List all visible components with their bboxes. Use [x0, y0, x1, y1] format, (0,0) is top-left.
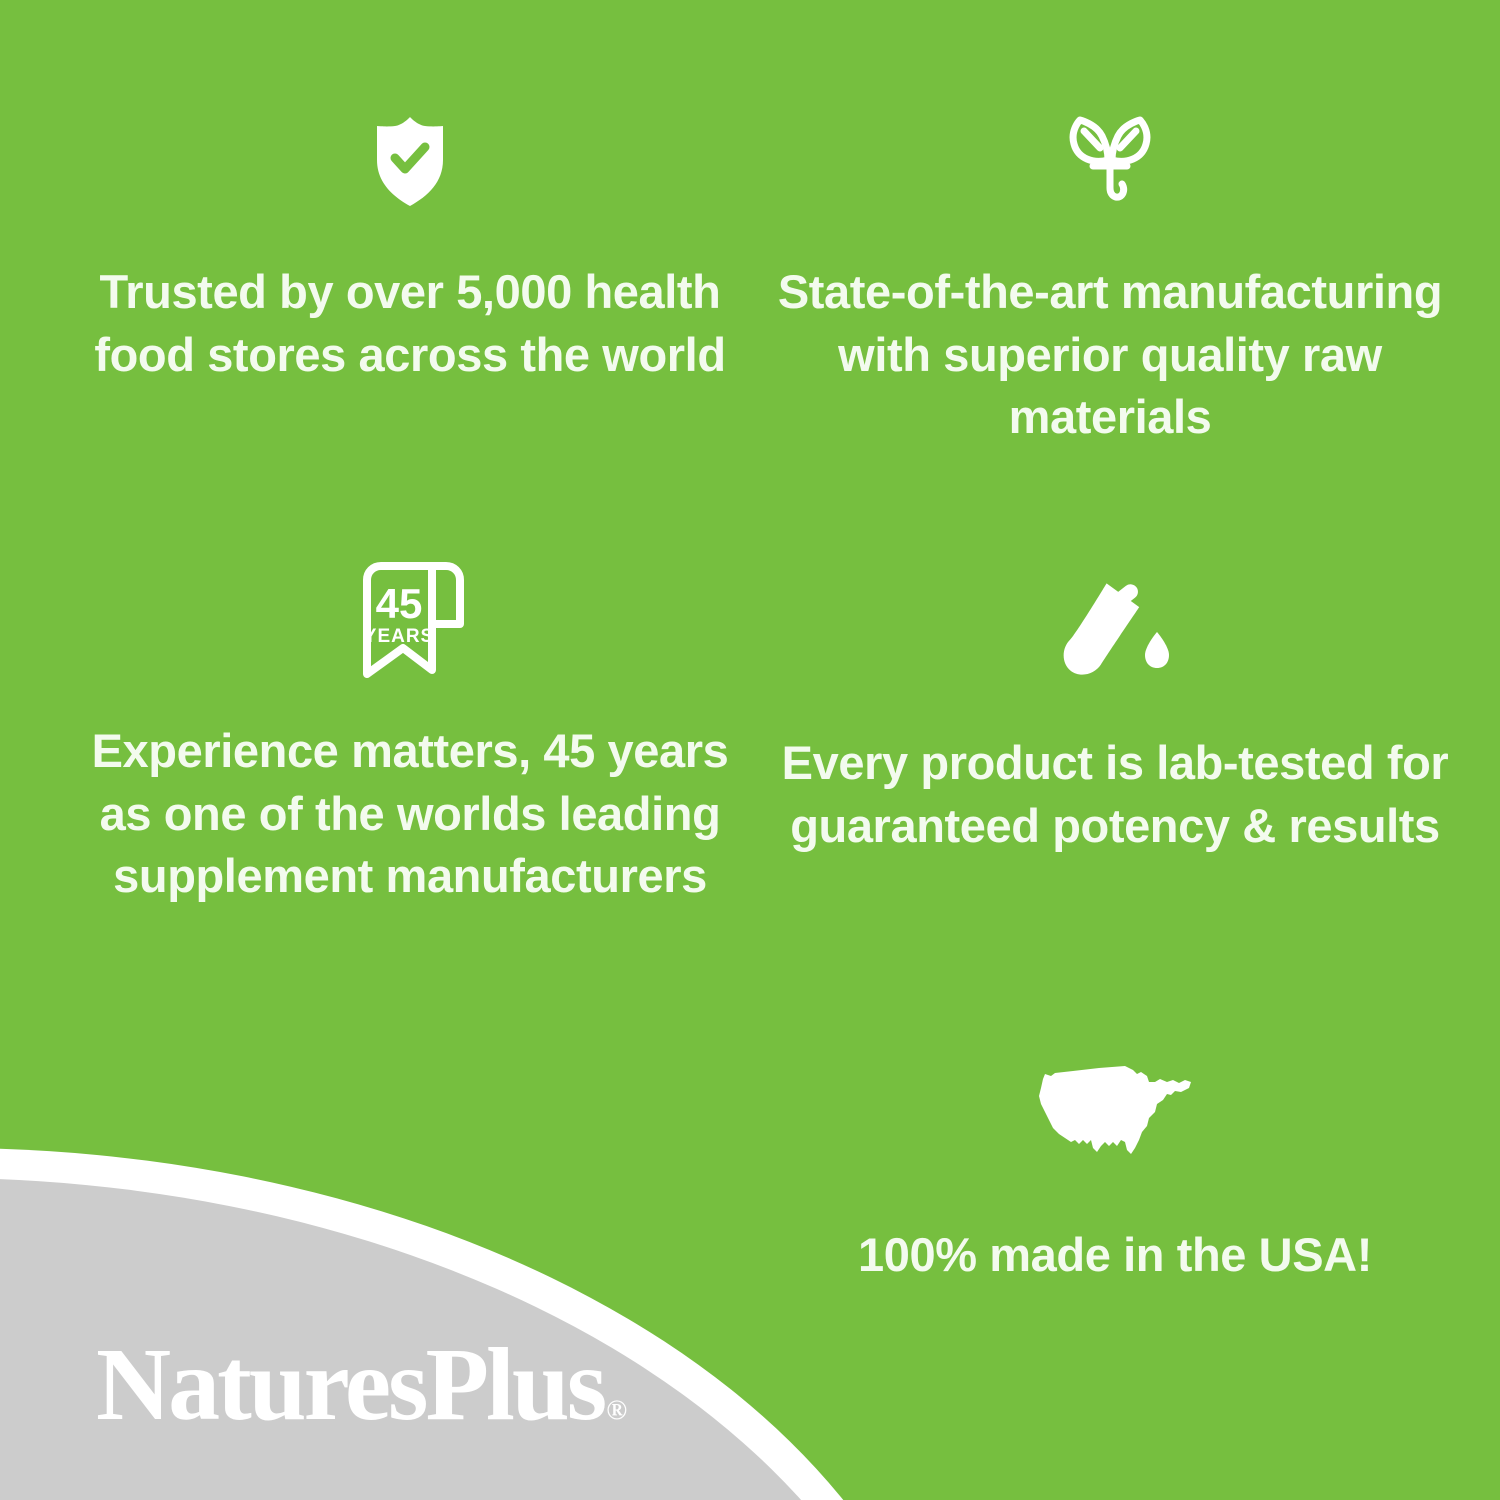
registered-trademark-icon: ®: [606, 1395, 627, 1426]
feature-made-in-usa: 100% made in the USA!: [850, 1060, 1380, 1287]
feature-caption: State-of-the-art manufacturing with supe…: [760, 261, 1460, 449]
ribbon-unit: YEARS: [364, 626, 434, 647]
feature-caption: Trusted by over 5,000 health food stores…: [80, 261, 740, 386]
brand-logo-text: NaturesPlus: [96, 1327, 604, 1442]
shield-check-icon: [373, 116, 447, 208]
ribbon-number: 45: [376, 580, 423, 627]
feature-caption: Every product is lab-tested for guarante…: [780, 732, 1450, 857]
icon-container: 45 YEARS: [354, 562, 466, 686]
feature-state-of-the-art: State-of-the-art manufacturing with supe…: [760, 112, 1460, 449]
promo-graphic: NaturesPlus® Trusted by over 5,000 healt…: [0, 0, 1500, 1500]
feature-trusted: Trusted by over 5,000 health food stores…: [80, 112, 740, 386]
icon-container: [1029, 1060, 1201, 1172]
icon-container: [373, 112, 447, 208]
feature-lab-tested: Every product is lab-tested for guarante…: [780, 576, 1450, 857]
test-tube-drop-icon: [1057, 578, 1173, 684]
feature-caption: Experience matters, 45 years as one of t…: [60, 720, 760, 908]
brand-logo: NaturesPlus®: [96, 1333, 627, 1437]
feature-experience: 45 YEARS Experience matters, 45 years as…: [60, 562, 760, 908]
icon-container: [1057, 576, 1173, 684]
sprout-icon: [1064, 114, 1156, 208]
ribbon-45-years-icon: 45 YEARS: [354, 560, 466, 686]
usa-map-icon: [1029, 1060, 1201, 1172]
icon-container: [1064, 112, 1156, 208]
feature-caption: 100% made in the USA!: [858, 1224, 1372, 1287]
